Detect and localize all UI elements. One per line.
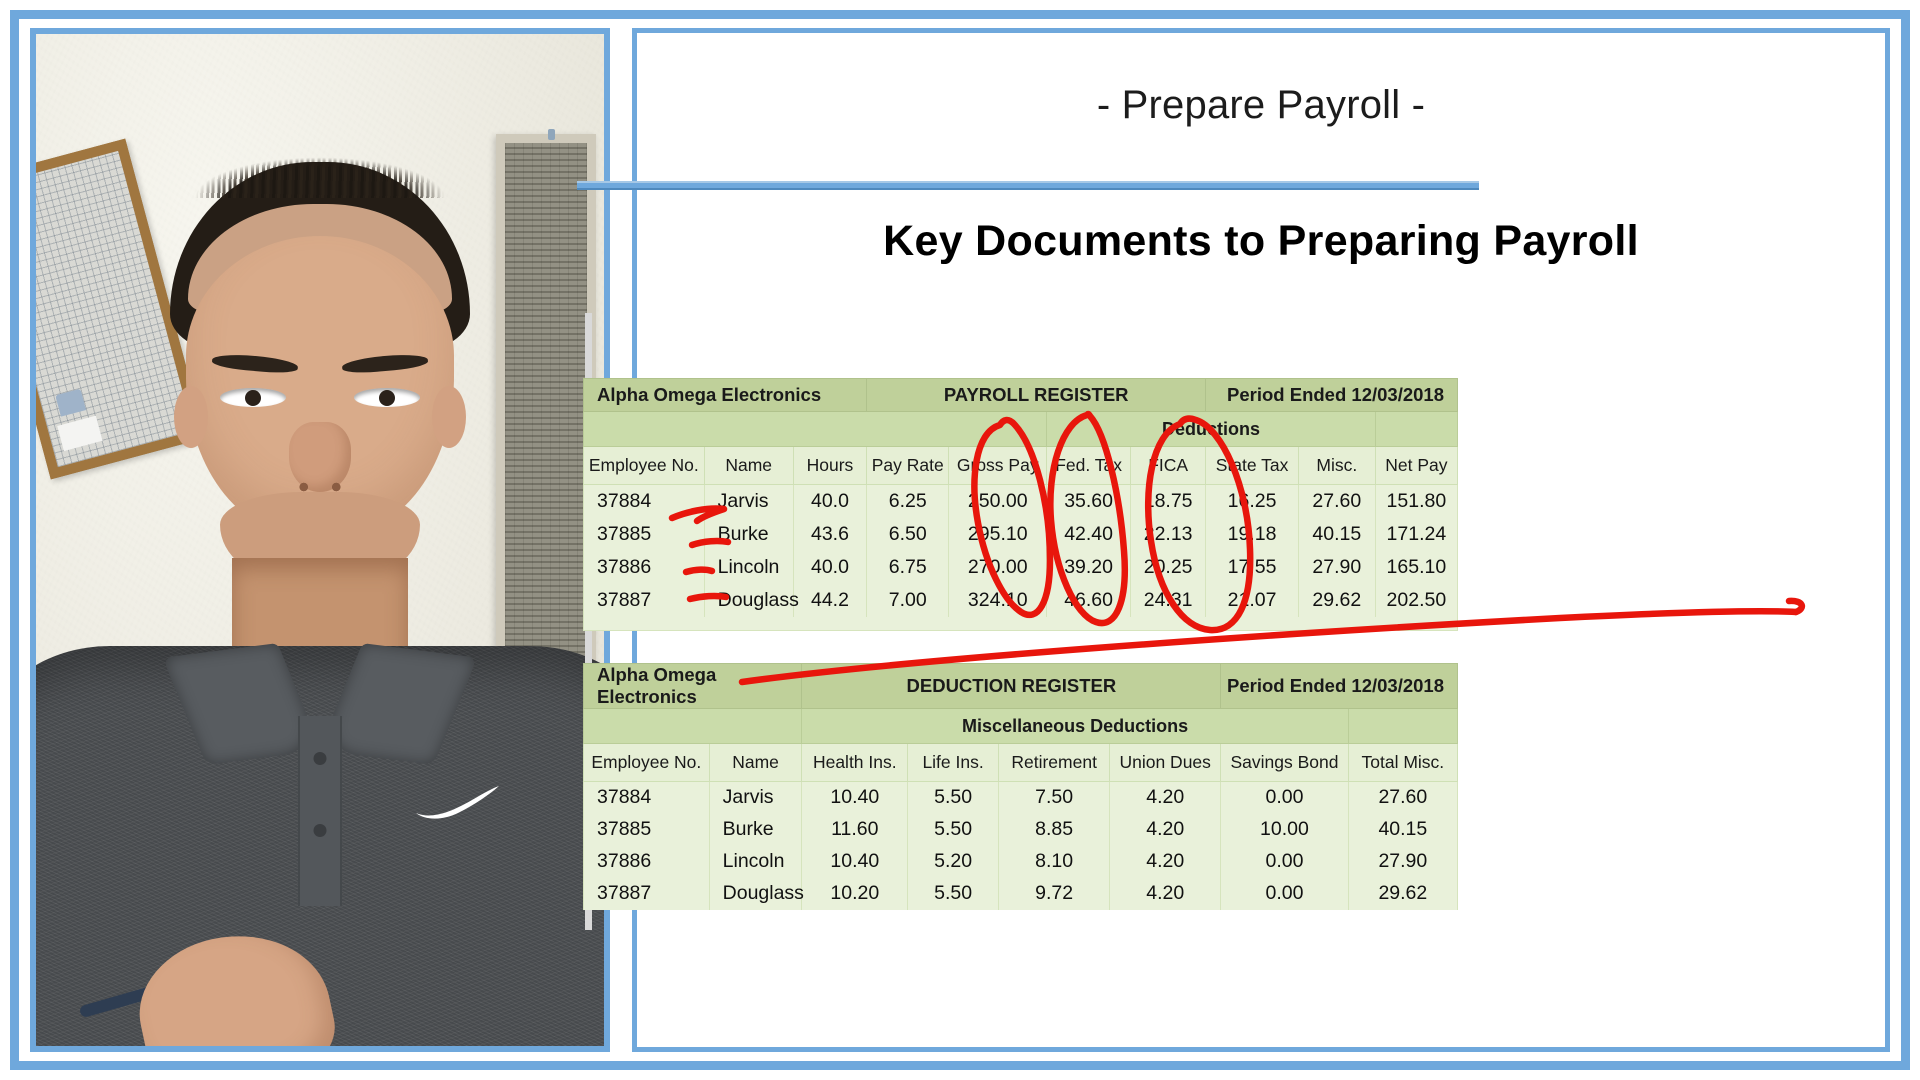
deduction-column-header-row: Employee No. Name Health Ins. Life Ins. … [584,744,1458,782]
ear-right [432,386,466,448]
cell-name: Burke [709,814,802,846]
table-row: 37887 Douglass 10.20 5.50 9.72 4.20 0.00… [584,878,1458,910]
cell-gross-pay: 295.10 [949,518,1047,551]
payroll-group-blank-right [1375,412,1457,447]
cell-state-tax: 19.18 [1206,518,1299,551]
cell-employee-no: 37884 [584,782,710,814]
cell-employee-no: 37887 [584,584,705,617]
cell-hours: 40.0 [793,551,866,584]
eye-right [354,388,420,407]
cell-hours: 40.0 [793,485,866,518]
cell-misc: 27.90 [1298,551,1375,584]
title-divider-rule [577,181,1479,190]
cell-union-dues: 4.20 [1110,814,1221,846]
deduction-register-table-wrap: Alpha Omega Electronics DEDUCTION REGIST… [583,663,1458,910]
pupil-right [379,390,395,406]
deduction-period: Period Ended 12/03/2018 [1221,664,1458,709]
payroll-col-hours: Hours [793,447,866,485]
cell-savings-bond: 0.00 [1221,782,1348,814]
deduction-group-blank-right [1348,709,1457,744]
presentation-slide: - Prepare Payroll - Key Documents to Pre… [632,28,1890,1052]
cell-fed-tax: 35.60 [1047,485,1131,518]
payroll-col-state-tax: State Tax [1206,447,1299,485]
cell-name: Lincoln [709,846,802,878]
payroll-col-employee-no: Employee No. [584,447,705,485]
cell-health-ins: 10.20 [802,878,908,910]
cell-pay-rate: 7.00 [867,584,949,617]
cell-retirement: 9.72 [999,878,1110,910]
payroll-col-net-pay: Net Pay [1375,447,1457,485]
cell-name: Jarvis [704,485,793,518]
cell-fica: 20.25 [1131,551,1206,584]
table-row: 37887 Douglass 44.2 7.00 324.10 46.60 24… [584,584,1458,617]
deduction-company-name: Alpha Omega Electronics [584,664,802,709]
payroll-title-band: Alpha Omega Electronics PAYROLL REGISTER… [584,379,1458,412]
cell-employee-no: 37885 [584,814,710,846]
cell-life-ins: 5.20 [908,846,999,878]
payroll-col-gross-pay: Gross Pay [949,447,1047,485]
cell-retirement: 8.10 [999,846,1110,878]
cell-employee-no: 37887 [584,878,710,910]
cell-misc: 29.62 [1298,584,1375,617]
eyebrow-right [342,352,429,374]
table-row: 37884 Jarvis 10.40 5.50 7.50 4.20 0.00 2… [584,782,1458,814]
cell-retirement: 8.85 [999,814,1110,846]
cell-hours: 43.6 [793,518,866,551]
deduction-register-table: Alpha Omega Electronics DEDUCTION REGIST… [583,663,1458,910]
slide-title: Key Documents to Preparing Payroll [637,217,1885,266]
deduction-group-blank-left [584,709,802,744]
cell-net-pay: 165.10 [1375,551,1457,584]
cell-gross-pay: 250.00 [949,485,1047,518]
cell-hours: 44.2 [793,584,866,617]
slide-subtitle: - Prepare Payroll - [637,83,1885,128]
payroll-register-table: Alpha Omega Electronics PAYROLL REGISTER… [583,378,1458,617]
table-row: 37885 Burke 43.6 6.50 295.10 42.40 22.13… [584,518,1458,551]
cell-state-tax: 16.25 [1206,485,1299,518]
cell-net-pay: 202.50 [1375,584,1457,617]
cell-fica: 22.13 [1131,518,1206,551]
table-row: 37884 Jarvis 40.0 6.25 250.00 35.60 18.7… [584,485,1458,518]
table-row: 37886 Lincoln 10.40 5.20 8.10 4.20 0.00 … [584,846,1458,878]
cell-savings-bond: 0.00 [1221,878,1348,910]
cell-name: Jarvis [709,782,802,814]
payroll-group-blank-left [584,412,1047,447]
cell-savings-bond: 0.00 [1221,846,1348,878]
cell-union-dues: 4.20 [1110,878,1221,910]
cell-state-tax: 21.07 [1206,584,1299,617]
eyebrow-left [212,352,299,374]
cell-total-misc: 40.15 [1348,814,1457,846]
cell-name: Lincoln [704,551,793,584]
cell-fica: 18.75 [1131,485,1206,518]
cell-name: Douglass [704,584,793,617]
cell-misc: 27.60 [1298,485,1375,518]
cell-pay-rate: 6.50 [867,518,949,551]
screen-root: - Prepare Payroll - Key Documents to Pre… [0,0,1920,1080]
table-row: 37885 Burke 11.60 5.50 8.85 4.20 10.00 4… [584,814,1458,846]
presenter-polo-shirt [36,646,604,1046]
cell-gross-pay: 270.00 [949,551,1047,584]
nike-swoosh-logo [414,786,500,820]
deduction-group-band: Miscellaneous Deductions [584,709,1458,744]
cell-union-dues: 4.20 [1110,782,1221,814]
payroll-col-fica: FICA [1131,447,1206,485]
misc-deductions-group-header: Miscellaneous Deductions [802,709,1348,744]
payroll-col-fed-tax: Fed. Tax [1047,447,1131,485]
cell-union-dues: 4.20 [1110,846,1221,878]
cell-name: Douglass [709,878,802,910]
cell-fed-tax: 42.40 [1047,518,1131,551]
deduction-col-life-ins: Life Ins. [908,744,999,782]
shirt-button-bottom [314,824,327,837]
deduction-title-band: Alpha Omega Electronics DEDUCTION REGIST… [584,664,1458,709]
cell-life-ins: 5.50 [908,814,999,846]
cell-pay-rate: 6.75 [867,551,949,584]
cell-life-ins: 5.50 [908,878,999,910]
payroll-col-name: Name [704,447,793,485]
payroll-group-band: Deductions [584,412,1458,447]
cell-misc: 40.15 [1298,518,1375,551]
deduction-col-name: Name [709,744,802,782]
cell-total-misc: 29.62 [1348,878,1457,910]
deduction-col-total-misc: Total Misc. [1348,744,1457,782]
cell-gross-pay: 324.10 [949,584,1047,617]
cell-employee-no: 37886 [584,551,705,584]
deduction-col-employee-no: Employee No. [584,744,710,782]
pupil-left [245,390,261,406]
ear-left [174,386,208,448]
payroll-period: Period Ended 12/03/2018 [1206,379,1458,412]
presenter-video-panel[interactable] [30,28,610,1052]
deduction-register-name: DEDUCTION REGISTER [802,664,1221,709]
cell-net-pay: 151.80 [1375,485,1457,518]
video-frame [36,34,604,1046]
payroll-company-name: Alpha Omega Electronics [584,379,867,412]
cell-health-ins: 11.60 [802,814,908,846]
presenter-face [186,236,454,536]
cell-name: Burke [704,518,793,551]
cell-pay-rate: 6.25 [867,485,949,518]
cell-savings-bond: 10.00 [1221,814,1348,846]
cell-state-tax: 17.55 [1206,551,1299,584]
cell-employee-no: 37886 [584,846,710,878]
cell-employee-no: 37884 [584,485,705,518]
deduction-col-retirement: Retirement [999,744,1110,782]
payroll-column-header-row: Employee No. Name Hours Pay Rate Gross P… [584,447,1458,485]
cell-health-ins: 10.40 [802,782,908,814]
collar-right [319,643,478,765]
deduction-col-union-dues: Union Dues [1110,744,1221,782]
wall-picture-frame-right [496,134,596,734]
payroll-col-misc: Misc. [1298,447,1375,485]
cell-life-ins: 5.50 [908,782,999,814]
cell-fica: 24.31 [1131,584,1206,617]
shirt-placket [298,716,342,906]
cell-fed-tax: 39.20 [1047,551,1131,584]
payroll-deductions-group-header: Deductions [1047,412,1376,447]
eye-left [220,388,286,407]
payroll-col-pay-rate: Pay Rate [867,447,949,485]
table-row: 37886 Lincoln 40.0 6.75 270.00 39.20 20.… [584,551,1458,584]
cell-total-misc: 27.90 [1348,846,1457,878]
deduction-col-health-ins: Health Ins. [802,744,908,782]
frame-nail [548,129,555,140]
payroll-register-table-wrap: Alpha Omega Electronics PAYROLL REGISTER… [583,378,1458,631]
payroll-register-name: PAYROLL REGISTER [867,379,1206,412]
frame-inner-panel [505,143,587,725]
deduction-col-savings-bond: Savings Bond [1221,744,1348,782]
cell-total-misc: 27.60 [1348,782,1457,814]
cell-health-ins: 10.40 [802,846,908,878]
payroll-table-bottom-edge [583,617,1458,631]
shirt-button-top [314,752,327,765]
cell-employee-no: 37885 [584,518,705,551]
presenter-hand [126,918,343,1046]
cell-net-pay: 171.24 [1375,518,1457,551]
cell-retirement: 7.50 [999,782,1110,814]
cell-fed-tax: 46.60 [1047,584,1131,617]
